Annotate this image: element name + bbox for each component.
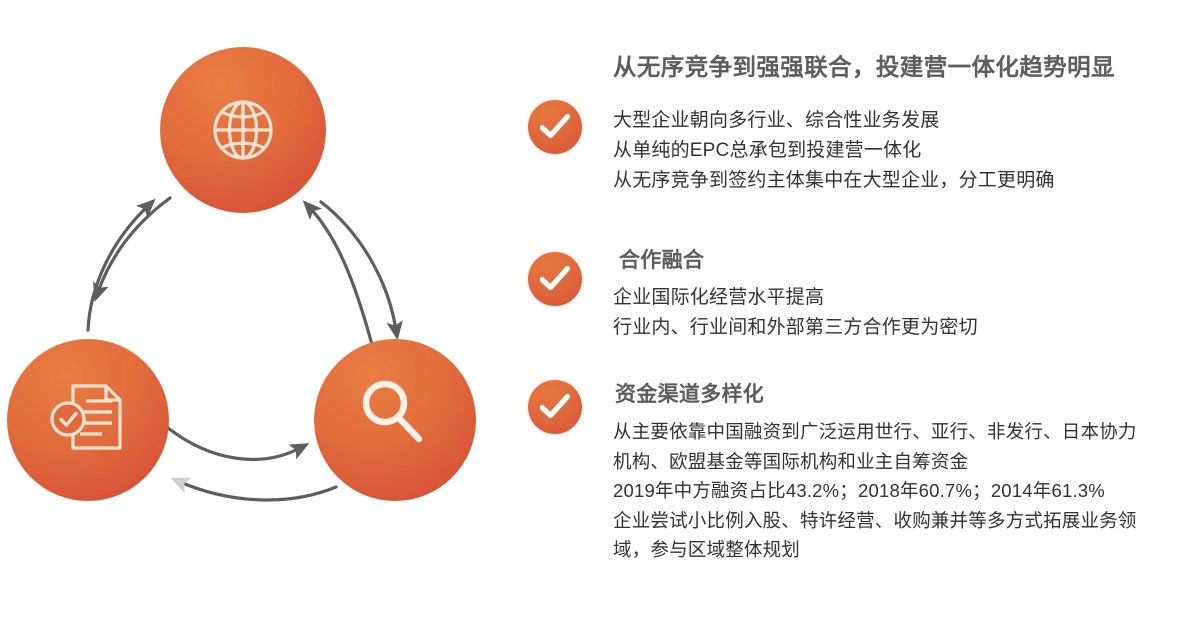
list-item: 2019年中方融资占比43.2%；2018年60.7%；2014年61.3%	[613, 476, 1193, 506]
list-item: 从单纯的EPC总承包到投建营一体化	[613, 136, 1193, 166]
cycle-node-globe[interactable]	[160, 47, 326, 213]
check-icon	[540, 393, 570, 421]
cycle-node-search[interactable]	[314, 339, 476, 501]
check-badge-1	[528, 100, 582, 154]
list-item: 从主要依靠中国融资到广泛运用世行、亚行、非发行、日本协力	[613, 417, 1193, 447]
content-column: 从无序竞争到强强联合，投建营一体化趋势明显 大型企业朝向多行业、综合性业务发展 …	[508, 0, 1200, 638]
node-document-circle	[7, 339, 169, 501]
list-item: 域，参与区域整体规划	[613, 535, 1193, 565]
check-badge-3	[528, 380, 582, 434]
bullet-block-2-body: 合作融合 企业国际化经营水平提高 行业内、行业间和外部第三方合作更为密切	[613, 244, 1193, 343]
check-icon	[540, 265, 570, 293]
section-heading-2: 合作融合	[619, 244, 1193, 274]
list-item: 大型企业朝向多行业、综合性业务发展	[613, 106, 1193, 136]
bullet-list-2: 企业国际化经营水平提高 行业内、行业间和外部第三方合作更为密切	[613, 283, 1193, 343]
bullet-list-1: 大型企业朝向多行业、综合性业务发展 从单纯的EPC总承包到投建营一体化 从无序竞…	[613, 106, 1193, 196]
connector-group-top-left	[88, 198, 170, 330]
cycle-node-document[interactable]	[7, 339, 169, 501]
section-heading-3: 资金渠道多样化	[615, 378, 1193, 408]
bullet-block-3-body: 资金渠道多样化 从主要依靠中国融资到广泛运用世行、亚行、非发行、日本协力 机构、…	[613, 378, 1193, 565]
list-item: 机构、欧盟基金等国际机构和业主自筹资金	[613, 447, 1193, 477]
bullet-list-3: 从主要依靠中国融资到广泛运用世行、亚行、非发行、日本协力 机构、欧盟基金等国际机…	[613, 417, 1193, 565]
slide-canvas: 从无序竞争到强强联合，投建营一体化趋势明显 大型企业朝向多行业、综合性业务发展 …	[0, 0, 1200, 638]
list-item: 企业尝试小比例入股、特许经营、收购兼并等多方式拓展业务领	[613, 506, 1193, 536]
list-item: 企业国际化经营水平提高	[613, 283, 1193, 313]
page-title: 从无序竞争到强强联合，投建营一体化趋势明显	[613, 48, 1193, 82]
globe-icon	[215, 102, 271, 158]
check-badge-2	[528, 252, 582, 306]
arrow-document-to-search	[168, 428, 300, 459]
arrow-globe-to-document	[98, 198, 170, 292]
arrow-search-to-globe	[310, 208, 374, 352]
connector-group-top-right	[310, 202, 396, 352]
three-node-cycle-diagram	[0, 0, 500, 638]
check-icon	[540, 113, 570, 141]
connector-group-bottom	[168, 428, 336, 500]
cycle-diagram-svg	[0, 0, 500, 638]
arrow-globe-to-search	[321, 202, 396, 330]
list-item: 行业内、行业间和外部第三方合作更为密切	[613, 313, 1193, 343]
arrow-search-to-document	[180, 482, 336, 500]
list-item: 从无序竞争到签约主体集中在大型企业，分工更明确	[613, 166, 1193, 196]
bullet-block-1-body: 大型企业朝向多行业、综合性业务发展 从单纯的EPC总承包到投建营一体化 从无序竞…	[613, 106, 1193, 196]
